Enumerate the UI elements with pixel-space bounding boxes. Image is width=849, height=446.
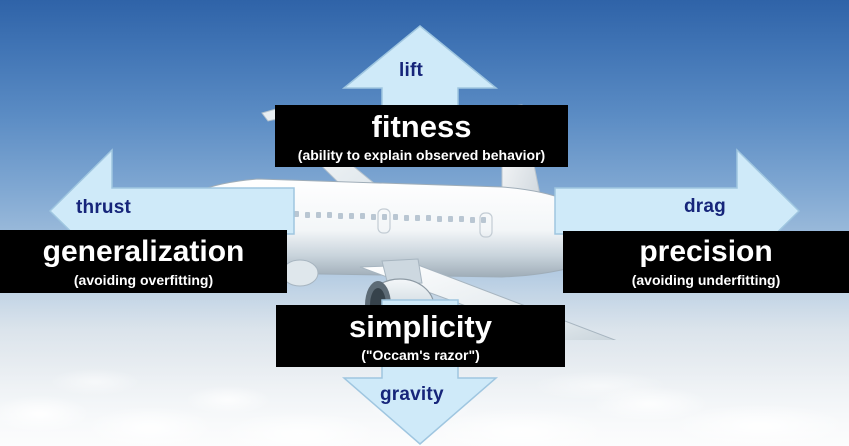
arrow-label-gravity: gravity (380, 384, 444, 406)
concept-title-generalization: generalization (43, 237, 245, 267)
concept-subtitle-generalization: (avoiding overfitting) (74, 273, 213, 287)
concept-box-simplicity: simplicity ("Occam's razor") (276, 305, 565, 367)
diagram-canvas: lift gravity thrust drag fitness (abilit… (0, 0, 849, 446)
concept-box-fitness: fitness (ability to explain observed beh… (275, 105, 568, 167)
concept-box-generalization: generalization (avoiding overfitting) (0, 230, 287, 293)
concept-subtitle-fitness: (ability to explain observed behavior) (298, 148, 545, 162)
concept-box-precision: precision (avoiding underfitting) (563, 231, 849, 293)
concept-subtitle-simplicity: ("Occam's razor") (361, 348, 480, 362)
arrow-label-drag: drag (684, 196, 726, 218)
concept-title-simplicity: simplicity (349, 311, 492, 342)
concept-title-fitness: fitness (372, 111, 472, 142)
arrow-label-thrust: thrust (76, 197, 131, 219)
arrow-label-lift: lift (399, 60, 423, 82)
concept-title-precision: precision (639, 237, 772, 267)
concept-subtitle-precision: (avoiding underfitting) (632, 273, 781, 287)
